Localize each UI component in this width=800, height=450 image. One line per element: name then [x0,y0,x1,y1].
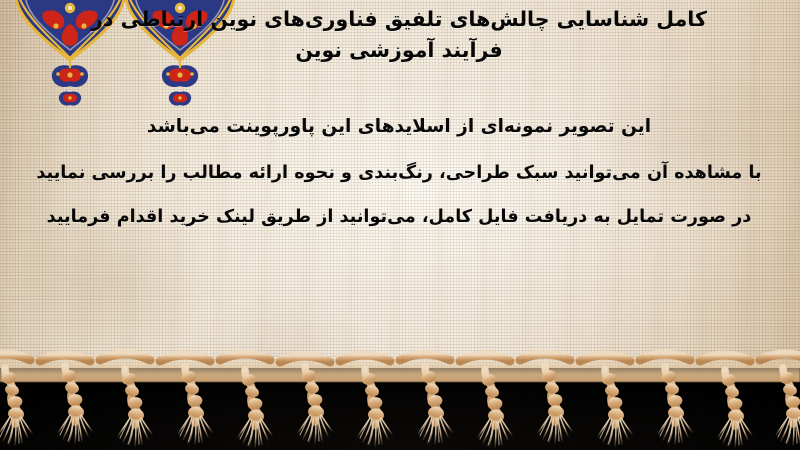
body-line-2: با مشاهده آن می‌توانید سبک طراحی، رنگ‌بن… [4,151,794,195]
slide-body: این تصویر نمونه‌ای از اسلایدهای این پاور… [4,104,794,239]
slide-title: کامل شناسایی چالش‌های تلفیق فناوری‌های ن… [4,4,794,66]
slide-canvas: کامل شناسایی چالش‌های تلفیق فناوری‌های ن… [0,0,800,450]
fringe-tassel-row [0,366,800,447]
fringe-edge-rope [0,354,800,362]
fringe-tassels [0,340,800,450]
body-line-1: این تصویر نمونه‌ای از اسلایدهای این پاور… [4,104,794,151]
slide-title-line-1: کامل شناسایی چالش‌های تلفیق فناوری‌های ن… [91,7,707,31]
carpet-fringe [0,340,800,450]
body-line-3: در صورت تمایل به دریافت فایل کامل، می‌تو… [4,195,794,239]
slide-title-line-2: فرآیند آموزشی نوین [4,35,794,66]
